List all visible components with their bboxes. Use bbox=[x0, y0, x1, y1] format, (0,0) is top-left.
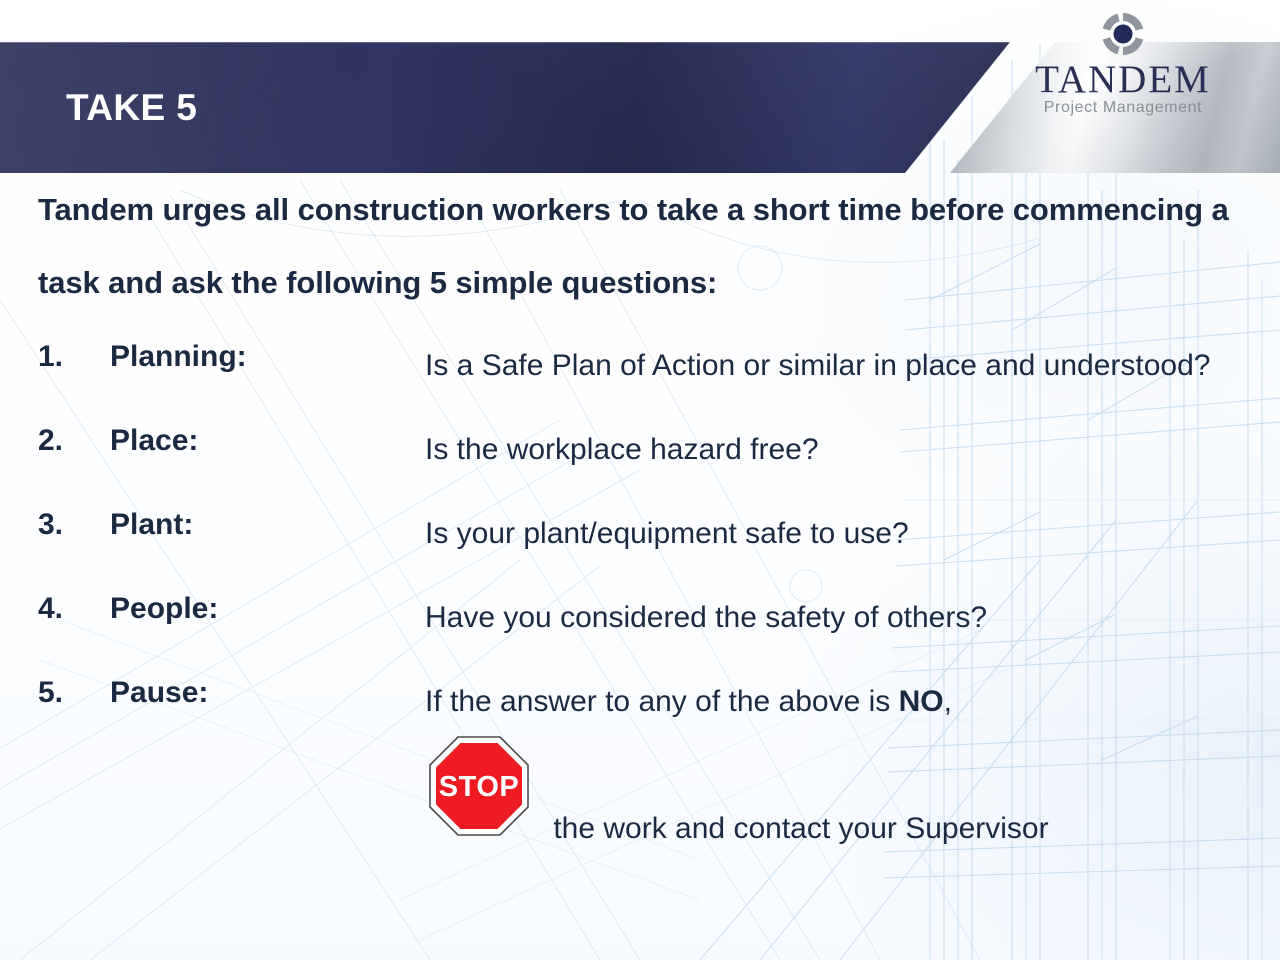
tandem-logo: TANDEM Project Management bbox=[1005, 8, 1241, 128]
page-title: TAKE 5 bbox=[66, 87, 197, 129]
ring-dot-logo-icon bbox=[1097, 8, 1149, 60]
intro-paragraph: Tandem urges all construction workers to… bbox=[0, 173, 1280, 319]
logo-tagline: Project Management bbox=[1005, 99, 1241, 117]
pause-second-line: STOP the work and contact your Superviso… bbox=[425, 734, 1252, 865]
item-label: Pause: bbox=[110, 665, 425, 721]
item-label: Planning: bbox=[110, 329, 425, 385]
item-number: 2. bbox=[38, 413, 110, 469]
pause-text-before: If the answer to any of the above is bbox=[425, 685, 899, 718]
item-text: Is a Safe Plan of Action or similar in p… bbox=[425, 329, 1280, 402]
item-label: Plant: bbox=[110, 497, 425, 553]
stop-sign-label: STOP bbox=[439, 771, 519, 803]
item-label: Place: bbox=[110, 413, 425, 469]
pause-text-comma: , bbox=[944, 685, 952, 718]
item-text: Have you considered the safety of others… bbox=[425, 581, 1280, 654]
item-number: 1. bbox=[38, 329, 110, 385]
slide-canvas: TAKE 5 TANDEM Project Management Tandem … bbox=[0, 0, 1280, 960]
pause-text-after: the work and contact your Supervisor bbox=[553, 812, 1048, 845]
item-number: 3. bbox=[38, 497, 110, 553]
item-text: Is the workplace hazard free? bbox=[425, 413, 1280, 486]
item-label: People: bbox=[110, 581, 425, 637]
pause-text-emphasis: NO bbox=[899, 685, 944, 718]
question-list: 1. Planning: Is a Safe Plan of Action or… bbox=[0, 329, 1280, 865]
item-text: If the answer to any of the above is NO,… bbox=[425, 665, 1280, 865]
list-item: 1. Planning: Is a Safe Plan of Action or… bbox=[0, 329, 1280, 402]
item-number: 4. bbox=[38, 581, 110, 637]
list-item: 3. Plant: Is your plant/equipment safe t… bbox=[0, 497, 1280, 570]
header-navy-band: TAKE 5 bbox=[0, 42, 1010, 173]
list-item: 5. Pause: If the answer to any of the ab… bbox=[0, 665, 1280, 865]
list-item: 2. Place: Is the workplace hazard free? bbox=[0, 413, 1280, 486]
item-text: Is your plant/equipment safe to use? bbox=[425, 497, 1280, 570]
logo-wordmark: TANDEM bbox=[1005, 61, 1241, 99]
slide-body: Tandem urges all construction workers to… bbox=[0, 173, 1280, 876]
item-number: 5. bbox=[38, 665, 110, 721]
stop-sign-icon: STOP bbox=[427, 812, 539, 845]
list-item: 4. People: Have you considered the safet… bbox=[0, 581, 1280, 654]
